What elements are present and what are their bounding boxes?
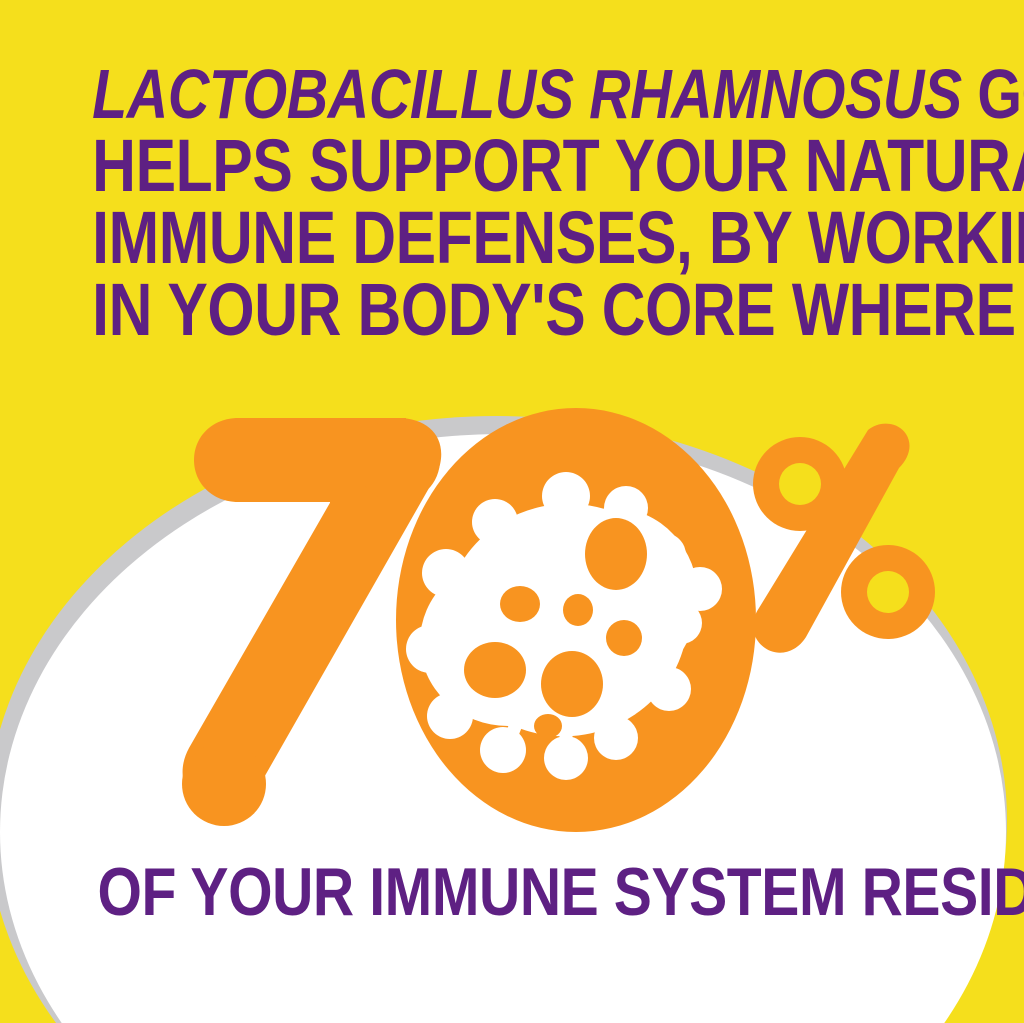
caption-text: OF YOUR IMMUNE SYSTEM RESIDES (98, 854, 1024, 930)
headline-line-1-strain: GG (962, 55, 1024, 133)
caption-block: OF YOUR IMMUNE SYSTEM RESIDES* (0, 857, 1024, 927)
headline-line-2: HELPS SUPPORT YOUR NATURAL (92, 130, 932, 202)
poster-canvas: LACTOBACILLUS RHAMNOSUS GG HELPS SUPPORT… (0, 0, 1024, 1023)
caption-line: OF YOUR IMMUNE SYSTEM RESIDES* (98, 857, 1024, 927)
headline-block: LACTOBACILLUS RHAMNOSUS GG HELPS SUPPORT… (0, 58, 1024, 346)
headline-line-3: IMMUNE DEFENSES, BY WORKING (92, 202, 932, 274)
headline-line-1: LACTOBACILLUS RHAMNOSUS GG (92, 58, 932, 130)
percent-symbol (753, 424, 935, 653)
headline-line-1-species: LACTOBACILLUS RHAMNOSUS (92, 55, 962, 133)
statistic-graphic (0, 392, 1024, 832)
headline-line-4: IN YOUR BODY'S CORE WHERE (92, 274, 932, 346)
